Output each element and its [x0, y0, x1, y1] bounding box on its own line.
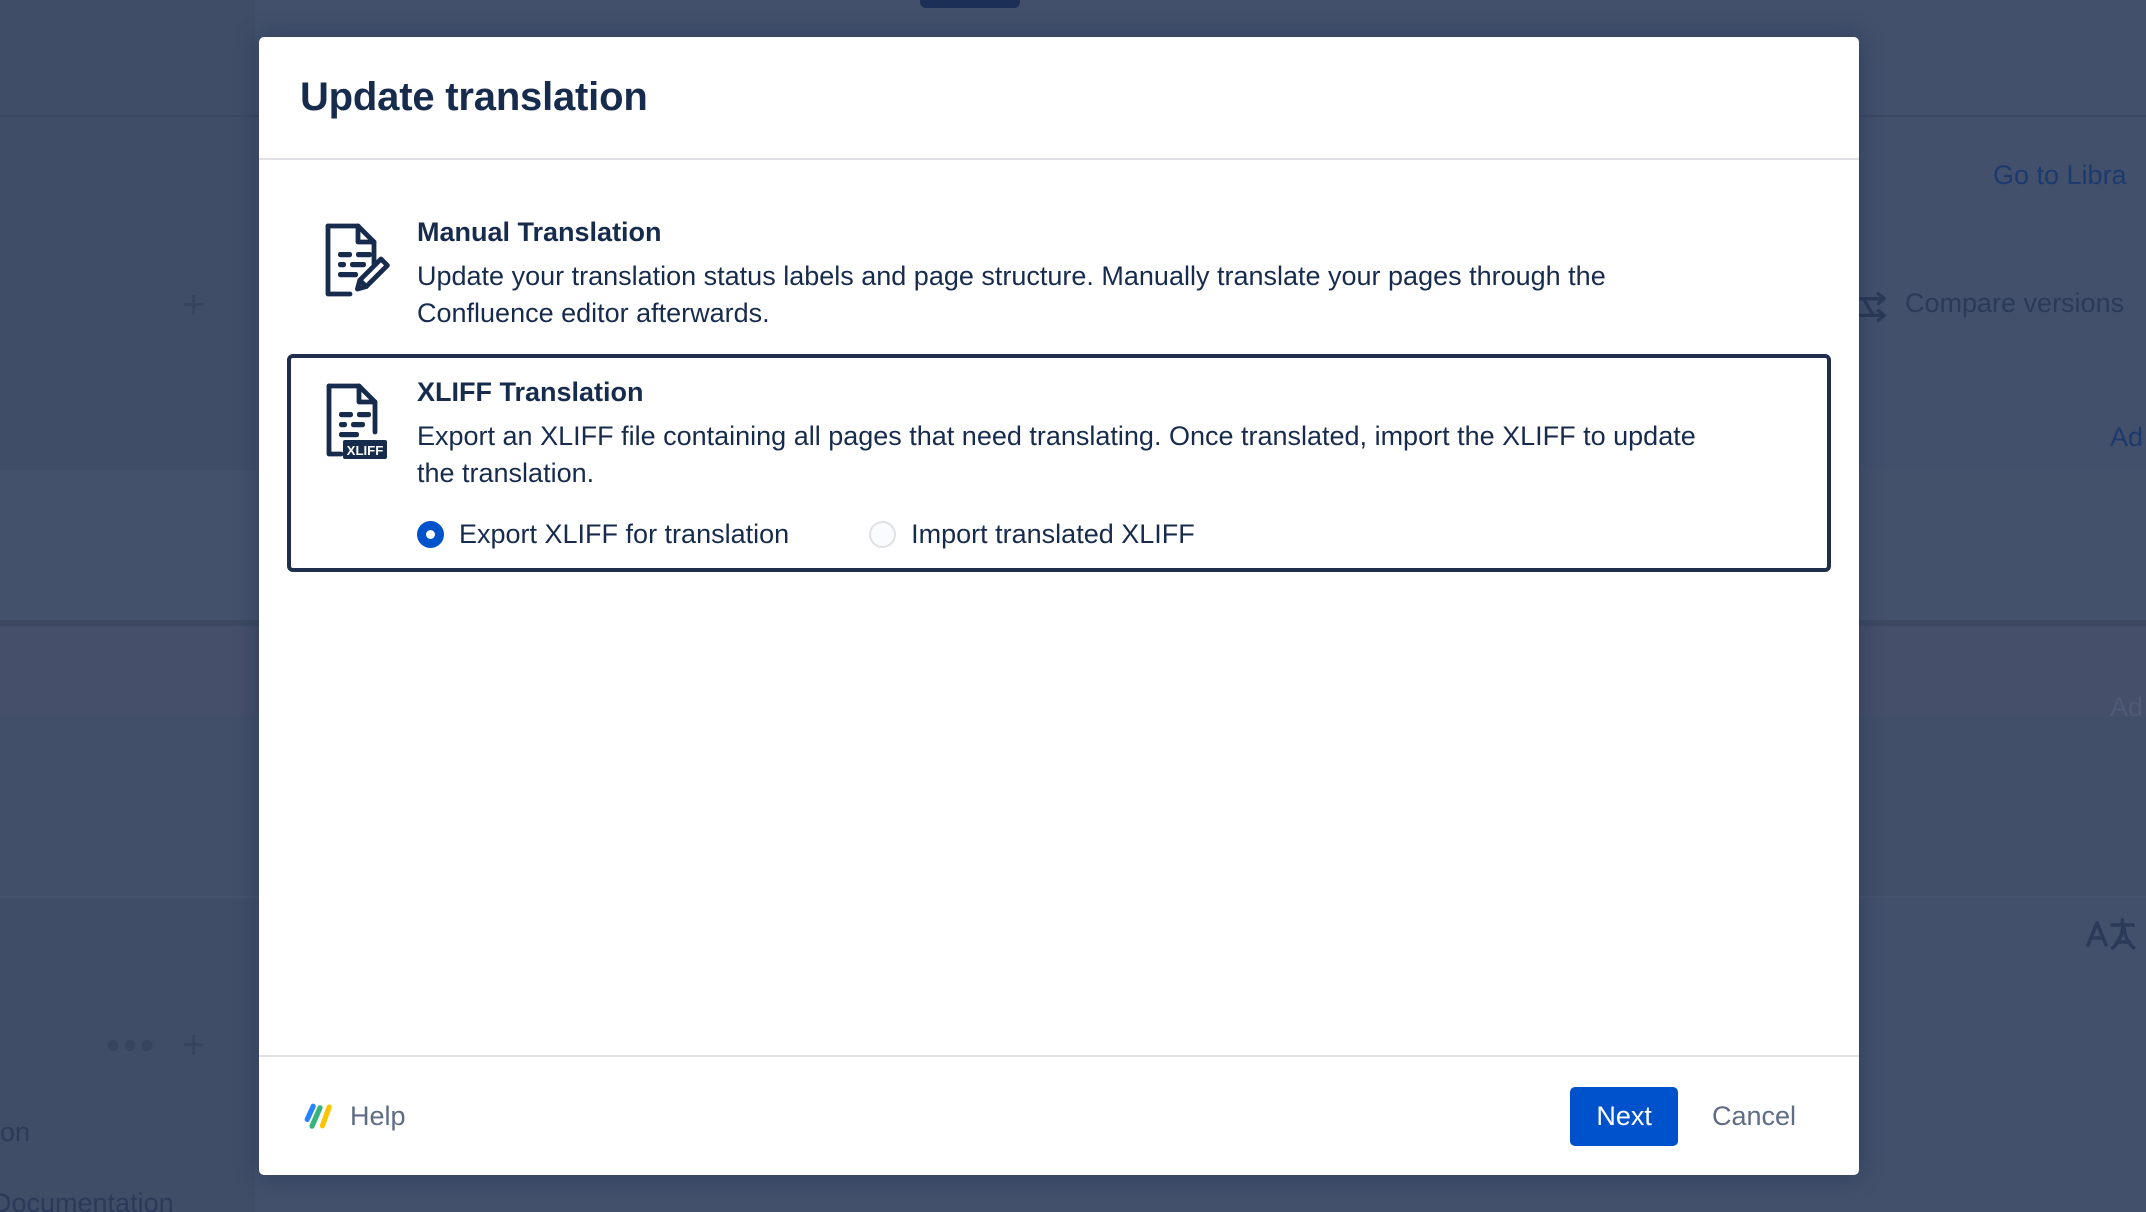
compare-shuffle-icon	[1855, 290, 1895, 324]
background-go-to-library-link[interactable]: Go to Libra	[1993, 160, 2127, 191]
plus-icon[interactable]: +	[182, 1025, 205, 1065]
screen: Go to Libra Compare versions Ad Ad	[0, 0, 2146, 1212]
help-label[interactable]: Help	[350, 1101, 406, 1132]
modal-footer: Help Next Cancel	[259, 1055, 1859, 1175]
radio-label-export[interactable]: Export XLIFF for translation	[459, 519, 789, 550]
cancel-button[interactable]: Cancel	[1690, 1087, 1818, 1146]
document-pencil-icon	[322, 222, 390, 300]
xliff-badge-text: XLIFF	[347, 443, 384, 458]
ellipsis-icon[interactable]: •••	[106, 1026, 157, 1066]
background-compare-versions-label[interactable]: Compare versions	[1905, 288, 2124, 319]
radio-label-import[interactable]: Import translated XLIFF	[911, 519, 1195, 550]
option-description: Update your translation status labels an…	[417, 258, 1707, 333]
option-content: XLIFF Translation Export an XLIFF file c…	[417, 376, 1805, 549]
radio-export-xliff[interactable]: Export XLIFF for translation	[417, 519, 789, 550]
modal-header: Update translation	[259, 37, 1859, 160]
option-description: Export an XLIFF file containing all page…	[417, 418, 1707, 493]
option-xliff-translation[interactable]: XLIFF XLIFF Translation Export an XLIFF …	[287, 354, 1831, 571]
option-content: Manual Translation Update your translati…	[417, 216, 1805, 332]
footer-actions: Next Cancel	[1570, 1087, 1818, 1146]
radio-unselected-icon[interactable]	[869, 521, 896, 548]
xliff-mode-radio-group: Export XLIFF for translation Import tran…	[417, 519, 1805, 550]
radio-selected-icon[interactable]	[417, 521, 444, 548]
background-partial-text-2: Documentation	[0, 1188, 174, 1212]
background-top-button	[920, 0, 1020, 8]
background-row-label-2[interactable]: Ad	[2110, 692, 2143, 723]
option-icon-wrapper: XLIFF	[313, 376, 399, 460]
option-icon-wrapper	[313, 216, 399, 300]
option-title: XLIFF Translation	[417, 376, 1805, 410]
help-bars-icon	[300, 1101, 334, 1131]
option-title: Manual Translation	[417, 216, 1805, 250]
plus-icon[interactable]: +	[182, 285, 205, 325]
next-button[interactable]: Next	[1570, 1087, 1678, 1146]
option-manual-translation[interactable]: Manual Translation Update your translati…	[287, 194, 1831, 354]
help-link[interactable]: Help	[300, 1101, 406, 1132]
background-partial-text: on	[0, 1117, 30, 1148]
page-title: Update translation	[300, 75, 648, 120]
document-xliff-icon: XLIFF	[323, 382, 389, 460]
modal-body: Manual Translation Update your translati…	[259, 160, 1859, 1055]
radio-import-xliff[interactable]: Import translated XLIFF	[869, 519, 1195, 550]
background-row-label-1[interactable]: Ad	[2110, 422, 2143, 453]
translate-icon	[2085, 915, 2137, 957]
update-translation-modal: Update translation	[259, 37, 1859, 1175]
